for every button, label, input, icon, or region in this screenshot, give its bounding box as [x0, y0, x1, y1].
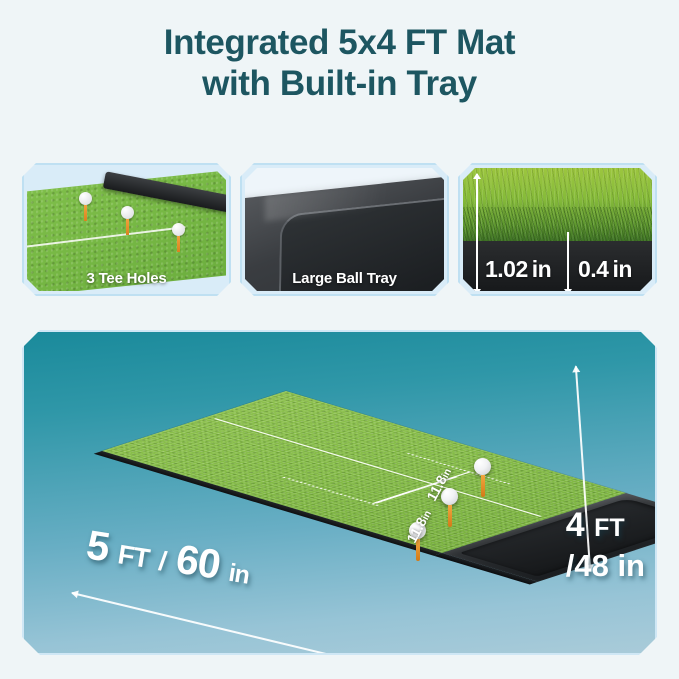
mat-assembly: 11.8in 11.8in 5 FT / 60 in 4: [24, 332, 657, 655]
total-thickness-unit: in: [532, 256, 551, 283]
height-value: 4: [566, 506, 585, 544]
title-line-1: Integrated 5x4 FT Mat: [0, 22, 679, 63]
golf-tee-icon: [121, 206, 134, 235]
height-unit-ft: FT: [594, 514, 625, 542]
turf-measurements: 1.02 in 0.4 in: [463, 241, 652, 291]
golf-tee-icon: [79, 192, 92, 221]
base-thickness-measure: 0.4 in: [578, 256, 632, 283]
width-inches: 60: [173, 536, 223, 588]
grass-fibers-icon: [463, 168, 652, 241]
base-thickness-unit: in: [612, 256, 631, 283]
mat-3d-body: [102, 391, 626, 553]
tee-spacing-segment-2: [372, 491, 413, 504]
width-dimension-line: [72, 592, 393, 655]
feature-card-ball-tray[interactable]: Large Ball Tray: [240, 163, 449, 296]
width-separator: /: [157, 546, 168, 577]
feature-card-turf-thickness[interactable]: 1.02 in 0.4 in: [458, 163, 657, 296]
total-thickness-measure: 1.02 in: [485, 256, 551, 283]
turf-cross-section-illustration: 1.02 in 0.4 in: [463, 168, 652, 291]
feature-card-row: 3 Tee Holes Large Ball Tray 1.02: [22, 163, 657, 296]
width-dimension-label: 5 FT / 60 in: [83, 521, 253, 593]
title-line-2: with Built-in Tray: [0, 63, 679, 104]
feature-card-label: 3 Tee Holes: [24, 270, 229, 287]
base-thickness-value: 0.4: [578, 256, 608, 283]
total-thickness-value: 1.02: [485, 256, 528, 283]
product-hero-panel: 11.8in 11.8in 5 FT / 60 in 4: [22, 330, 657, 655]
height-dimension-label: 4 FT /48 in: [566, 507, 645, 584]
height-line-2: /48 in: [566, 547, 645, 584]
width-unit-ft: FT: [116, 539, 151, 573]
tee-guide-dotted-2: [282, 477, 379, 506]
feature-card-tee-holes[interactable]: 3 Tee Holes: [22, 163, 231, 296]
golf-tee-icon: [474, 458, 491, 497]
page-title: Integrated 5x4 FT Mat with Built-in Tray: [0, 22, 679, 104]
golf-tee-icon: [172, 223, 185, 252]
width-unit-in: in: [227, 559, 251, 590]
width-value: 5: [83, 521, 112, 570]
height-line-1: 4 FT: [566, 507, 645, 547]
infographic-page: Integrated 5x4 FT Mat with Built-in Tray…: [0, 0, 679, 679]
feature-card-label: Large Ball Tray: [242, 270, 447, 287]
golf-tee-icon: [441, 488, 458, 527]
